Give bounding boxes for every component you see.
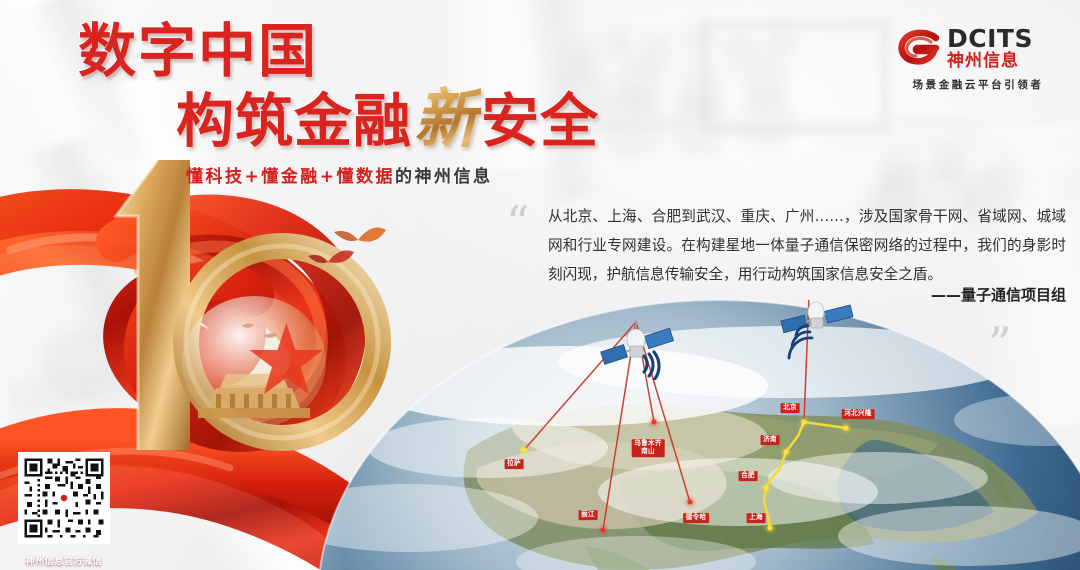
city-label: 河北兴隆 [842,409,875,419]
city-label: 上海 [747,513,766,523]
subtitle-plus-1: + [245,167,262,187]
subtitle-data: 懂数据 [337,167,396,187]
qr-code-icon[interactable] [18,452,110,544]
map-node [601,528,606,533]
map-node [844,426,849,431]
city-label: 合肥 [739,471,758,481]
city-label: 乌鲁木齐 南山 [632,439,665,457]
headline-line-2-part-1: 构筑金融 [176,87,412,155]
map-node [802,420,807,425]
map-node [652,420,657,425]
map-node [764,486,769,491]
wechat-qr-block[interactable]: 神州信息官方微信 [18,452,110,567]
logo-row: DCITS 神州信息 [898,26,1058,70]
logo-name-en: DCITS [947,26,1033,51]
city-label: 德令哈 [683,513,709,523]
logo-name-cn: 神州信息 [947,53,1033,70]
city-label: 丽江 [579,510,598,520]
qr-caption: 神州信息官方微信 [18,554,110,567]
logo-tagline: 场景金融云平台引领者 [898,77,1058,92]
headline-line-2: 构筑金融新安全 [176,88,599,152]
subtitle-tech: 懂科技 [186,167,245,187]
city-label: 拉萨 [505,459,524,469]
headline-line-2-part-2: 安全 [481,87,599,155]
subtitle-plus-2: + [320,167,337,187]
earth-globe [318,300,1080,570]
globe-map: 拉萨乌鲁木齐 南山丽江德令哈北京河北兴隆济南合肥上海 [318,300,1080,570]
headline-subtitle: 懂科技+懂金融+懂数据的神州信息 [186,162,493,187]
quote-open-mark: “ [506,200,530,246]
satellite-right-icon [778,300,862,362]
headline-line-1: 数字中国 [78,22,318,80]
map-node [688,500,693,505]
map-node [522,448,527,453]
logo-text: DCITS 神州信息 [947,26,1033,70]
headline-accent-new: 新 [412,83,481,157]
city-label: 北京 [781,403,800,413]
dcits-swoosh-icon [898,29,940,67]
city-label: 济南 [761,435,780,445]
map-node [768,526,773,531]
flying-birds-icon [282,214,392,276]
subtitle-finance: 懂金融 [261,167,320,187]
map-node [784,450,789,455]
quote-body: 从北京、上海、合肥到武汉、重庆、广州……，涉及国家骨干网、省域网、城域网和行业专… [548,202,1066,290]
brand-logo[interactable]: DCITS 神州信息 场景金融云平台引领者 [898,26,1058,92]
subtitle-company: 的神州信息 [395,167,493,187]
poster-root: 数字中国 构筑金融新安全 懂科技+懂金融+懂数据的神州信息 DCITS 神州信息 [0,0,1080,570]
satellite-left-icon [600,310,684,380]
